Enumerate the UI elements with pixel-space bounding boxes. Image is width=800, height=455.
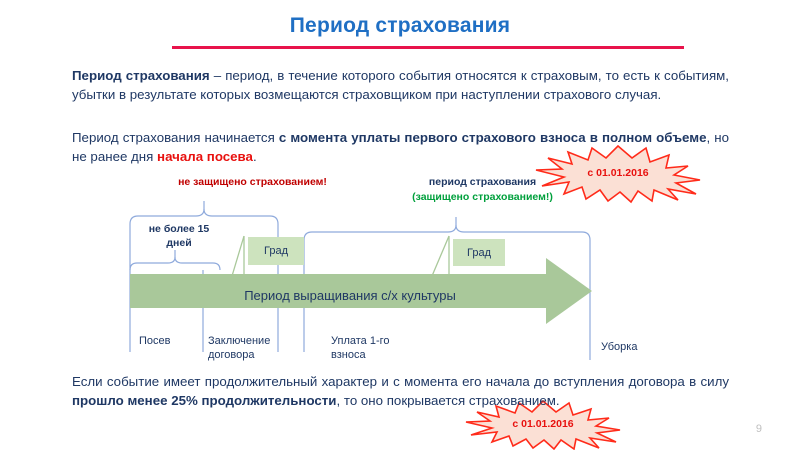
hail-event-box-2: Град (453, 239, 505, 266)
axis-event-harvest: Уборка (601, 340, 637, 354)
axis-event-sowing: Посев (139, 334, 171, 348)
axis-event-first-payment: Уплата 1-го взноса (331, 334, 411, 362)
hail-box-2-label: Град (467, 247, 491, 259)
brace-fifteen-days (130, 250, 220, 270)
starburst-badge-top-text: с 01.01.2016 (528, 167, 708, 179)
paragraph-3-part-2: , то оно покрывается страхованием. (336, 393, 559, 408)
paragraph-2-part-3: . (253, 149, 257, 164)
growth-band-label: Период выращивания с/х культуры (140, 288, 560, 303)
paragraph-1-lead: Период страхования (72, 68, 210, 83)
paragraph-duration-rule: Если событие имеет продолжительный харак… (72, 372, 729, 410)
paragraph-3-bold-1: прошло менее 25% продолжительности (72, 393, 336, 408)
paragraph-2-part-1: Период страхования начинается (72, 130, 279, 145)
brace-unprotected (130, 201, 278, 224)
brace-protected (304, 217, 590, 240)
starburst-badge-bottom-text: с 01.01.2016 (458, 418, 628, 430)
paragraph-2-red-bold: начала посева (157, 149, 253, 164)
paragraph-3-part-1: Если событие имеет продолжительный харак… (72, 374, 729, 389)
label-unprotected-period: не защищено страхованием! (145, 176, 360, 188)
label-fifteen-days: не более 15 дней (136, 222, 222, 250)
title-underline-rule (172, 46, 684, 49)
hail-box-1-label: Град (264, 245, 288, 257)
axis-event-contract: Заключение договора (208, 334, 288, 362)
page-title: Период страхования (0, 14, 800, 38)
paragraph-definition: Период страхования – период, в течение к… (72, 66, 729, 104)
page-number: 9 (756, 423, 762, 435)
hail-event-box-1: Град (248, 237, 304, 265)
starburst-badge-top: с 01.01.2016 (528, 142, 708, 204)
